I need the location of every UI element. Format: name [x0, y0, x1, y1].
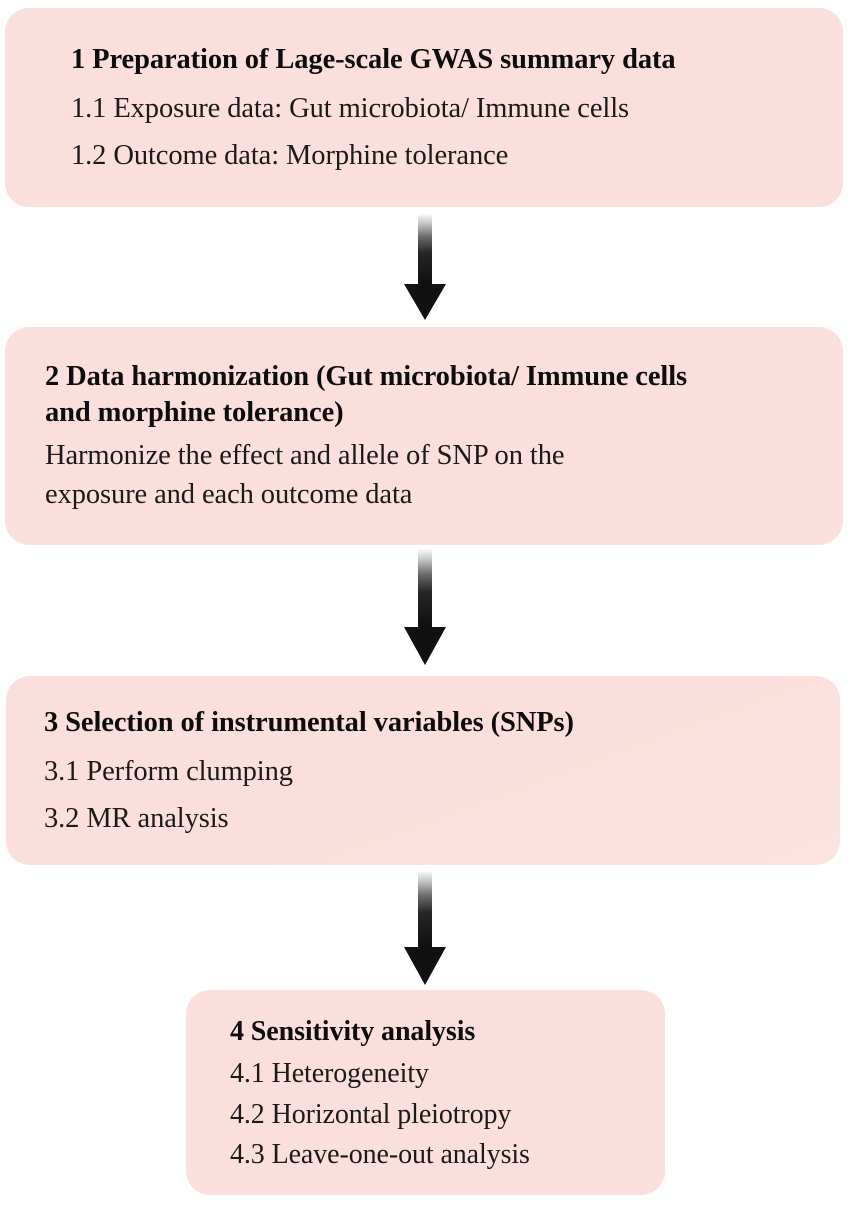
- step-2-body: Harmonize the effect and allele of SNP o…: [45, 437, 803, 515]
- arrow-down-icon-step2-to-step3: [397, 549, 453, 666]
- flowchart-step-2: 2 Data harmonization (Gut microbiota/ Im…: [5, 327, 843, 545]
- arrow-down-icon-step3-to-step4: [397, 871, 453, 986]
- step-2-title: 2 Data harmonization (Gut microbiota/ Im…: [45, 359, 803, 431]
- flowchart-step-3: 3 Selection of instrumental variables (S…: [6, 676, 840, 865]
- flowchart-canvas: 1 Preparation of Lage-scale GWAS summary…: [0, 0, 851, 1209]
- step-1-title: 1 Preparation of Lage-scale GWAS summary…: [71, 42, 803, 78]
- step-3-title: 3 Selection of instrumental variables (S…: [44, 705, 800, 741]
- step-1-item-2: 1.2 Outcome data: Morphine tolerance: [71, 137, 803, 175]
- step-3-item-1: 3.1 Perform clumping: [44, 753, 800, 791]
- step-3-item-2: 3.2 MR analysis: [44, 800, 800, 838]
- step-4-item-3: 4.3 Leave-one-out analysis: [230, 1136, 625, 1173]
- flowchart-step-4: 4 Sensitivity analysis 4.1 Heterogeneity…: [186, 990, 665, 1195]
- step-4-title: 4 Sensitivity analysis: [230, 1014, 625, 1049]
- flowchart-step-1: 1 Preparation of Lage-scale GWAS summary…: [5, 8, 843, 207]
- arrow-down-icon-step1-to-step2: [397, 214, 453, 321]
- step-4-item-1: 4.1 Heterogeneity: [230, 1055, 625, 1092]
- step-1-item-1: 1.1 Exposure data: Gut microbiota/ Immun…: [71, 90, 803, 128]
- step-4-item-2: 4.2 Horizontal pleiotropy: [230, 1096, 625, 1133]
